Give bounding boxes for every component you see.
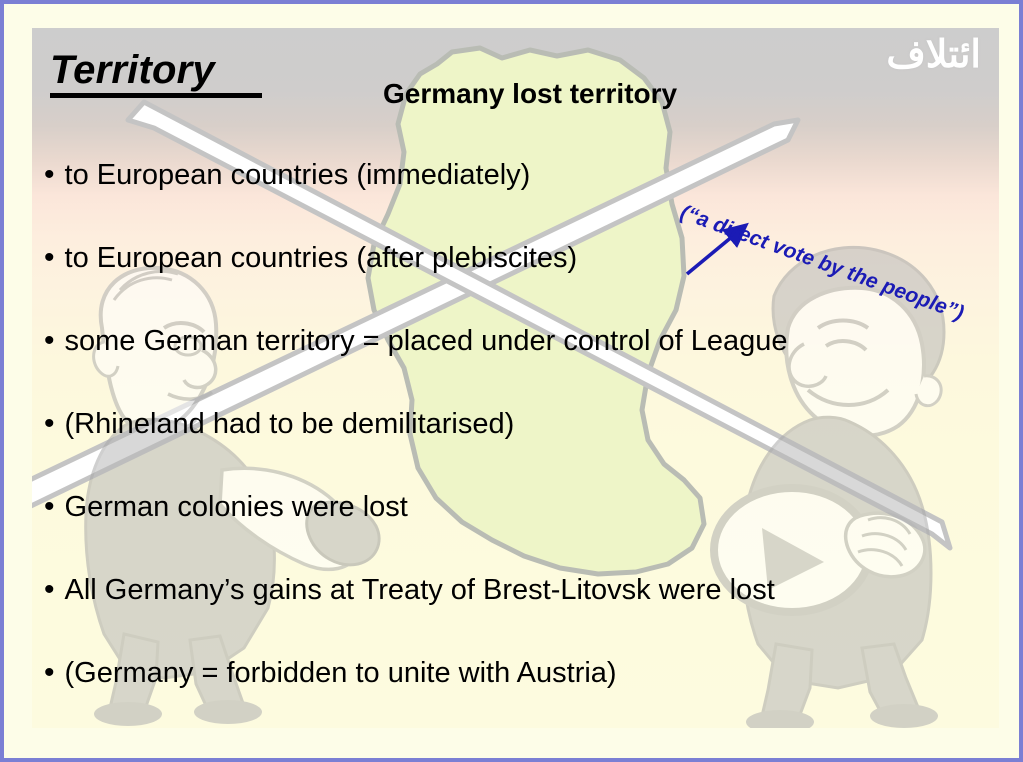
subtitle-label: Germany lost territory bbox=[383, 78, 677, 110]
bullet-dot-icon: • bbox=[44, 243, 55, 273]
page-title-label: Territory bbox=[50, 50, 262, 90]
bullet-dot-icon: • bbox=[44, 658, 55, 688]
list-item: •(Rhineland had to be demilitarised) bbox=[44, 409, 994, 492]
list-item-label: to European countries (immediately) bbox=[65, 161, 531, 190]
slide-canvas: ائتلاف Territory Germany lost territory … bbox=[32, 28, 999, 728]
title-underline bbox=[50, 93, 262, 98]
bullet-dot-icon: • bbox=[44, 326, 55, 356]
list-item: •to European countries (after plebiscite… bbox=[44, 243, 994, 326]
list-item: •All Germany’s gains at Treaty of Brest-… bbox=[44, 575, 994, 658]
bullet-dot-icon: • bbox=[44, 160, 55, 190]
bullet-dot-icon: • bbox=[44, 409, 55, 439]
bullet-dot-icon: • bbox=[44, 575, 55, 605]
arabic-watermark: ائتلاف bbox=[886, 32, 981, 77]
bullet-dot-icon: • bbox=[44, 492, 55, 522]
slide-frame: ائتلاف Territory Germany lost territory … bbox=[0, 0, 1023, 762]
list-item-label: some German territory = placed under con… bbox=[65, 327, 788, 356]
list-item-label: All Germany’s gains at Treaty of Brest-L… bbox=[65, 576, 775, 605]
list-item: •to European countries (immediately) bbox=[44, 160, 994, 243]
list-item: •some German territory = placed under co… bbox=[44, 326, 994, 409]
list-item-label: (Rhineland had to be demilitarised) bbox=[65, 410, 515, 439]
list-item: •German colonies were lost bbox=[44, 492, 994, 575]
page-title: Territory bbox=[50, 50, 262, 98]
bullet-list: •to European countries (immediately)•to … bbox=[44, 160, 994, 728]
list-item-label: German colonies were lost bbox=[65, 493, 408, 522]
list-item-label: to European countries (after plebiscites… bbox=[65, 244, 578, 273]
list-item: •(Germany = forbidden to unite with Aust… bbox=[44, 658, 994, 728]
list-item-label: (Germany = forbidden to unite with Austr… bbox=[65, 659, 617, 688]
